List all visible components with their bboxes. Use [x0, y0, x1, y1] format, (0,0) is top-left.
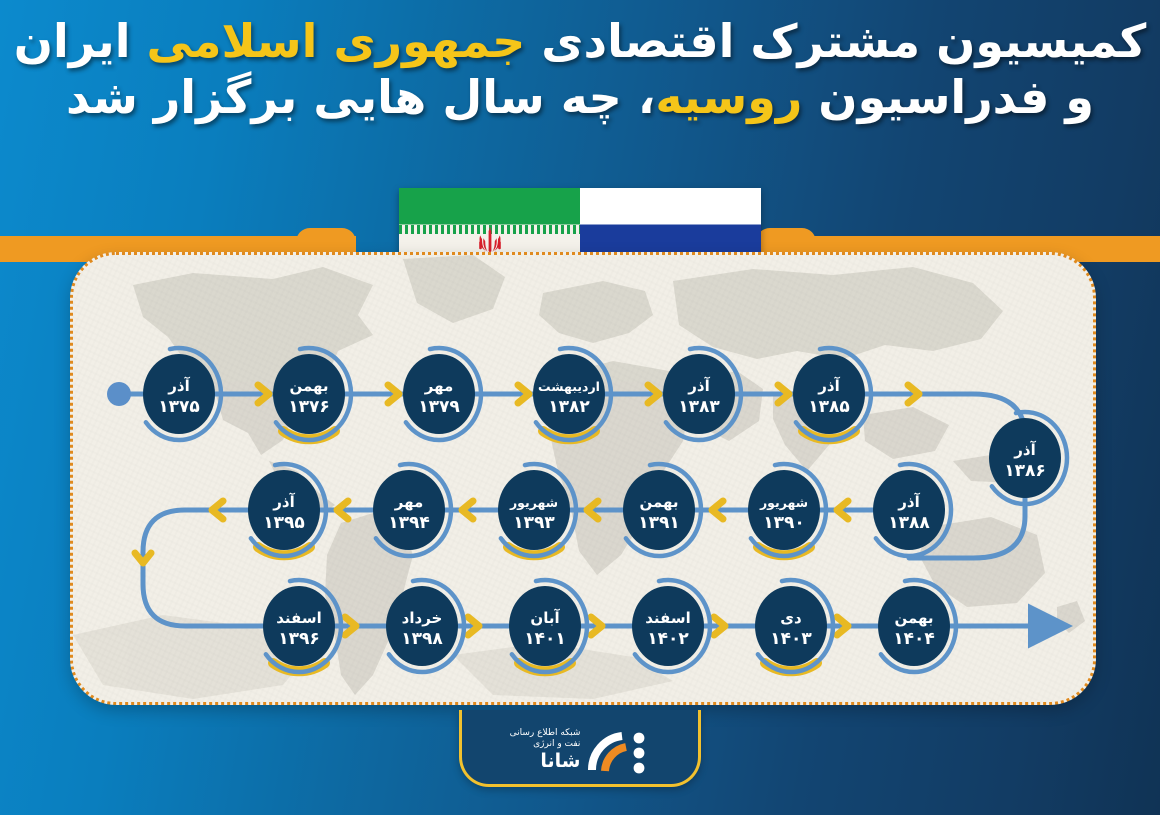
node-month: بهمن	[639, 493, 678, 511]
node-year: ۱۳۹۳	[513, 513, 555, 533]
node-month: آذر	[167, 377, 190, 395]
timeline-panel: آذر۱۳۷۵بهمن۱۳۷۶مهر۱۳۷۹اردیبهشت۱۳۸۲آذر۱۳۸…	[70, 252, 1096, 705]
node-month: دی	[780, 609, 802, 627]
node-month: آذر	[687, 377, 710, 395]
timeline-node-r3-2[interactable]: خرداد۱۳۹۸	[380, 580, 464, 672]
title-line-1: کمیسیون مشترک اقتصادی جمهوری اسلامی ایرا…	[0, 16, 1160, 68]
node-year: ۱۳۹۵	[263, 513, 305, 533]
shana-logo-text: شبکه اطلاع رسانی نفت و انرژی شانا	[510, 728, 581, 774]
node-year: ۱۳۸۲	[548, 397, 590, 417]
node-month: اسفند	[276, 609, 321, 627]
timeline-node-r1-6[interactable]: آذر۱۳۸۵	[787, 348, 871, 440]
node-month: آذر	[897, 493, 920, 511]
shana-logo-icon	[588, 728, 650, 774]
shana-logo: شبکه اطلاع رسانی نفت و انرژی شانا	[462, 710, 698, 784]
timeline-node-r1-1[interactable]: آذر۱۳۷۵	[137, 348, 221, 440]
timeline-node-r3-3[interactable]: آبان۱۴۰۱	[503, 580, 587, 672]
node-month: اردیبهشت	[538, 379, 600, 394]
timeline-node-r2-2[interactable]: مهر۱۳۹۴	[367, 464, 451, 556]
node-year: ۱۳۷۵	[158, 397, 200, 417]
node-year: ۱۴۰۴	[893, 629, 935, 649]
node-year: ۱۳۷۹	[418, 397, 460, 417]
page-title: کمیسیون مشترک اقتصادی جمهوری اسلامی ایرا…	[0, 16, 1160, 123]
title-seg-2a: و فدراسیون	[802, 70, 1094, 124]
timeline-node-wrap-right[interactable]: آذر۱۳۸۶	[983, 412, 1067, 504]
timeline-node-r3-1[interactable]: اسفند۱۳۹۶	[257, 580, 341, 672]
node-year: ۱۳۹۶	[278, 629, 320, 649]
timeline-node-r1-3[interactable]: مهر۱۳۷۹	[397, 348, 481, 440]
node-year: ۱۳۸۸	[888, 513, 930, 533]
node-month: بهمن	[289, 377, 328, 395]
logo-line-2: نفت و انرژی	[510, 739, 581, 750]
timeline-graphic: آذر۱۳۷۵بهمن۱۳۷۶مهر۱۳۷۹اردیبهشت۱۳۸۲آذر۱۳۸…	[73, 255, 1093, 702]
logo-brand-name: شانا	[510, 750, 581, 774]
node-year: ۱۴۰۳	[770, 629, 812, 649]
node-month: آذر	[1013, 441, 1036, 459]
timeline-node-r3-4[interactable]: اسفند۱۴۰۲	[626, 580, 710, 672]
infographic-canvas: کمیسیون مشترک اقتصادی جمهوری اسلامی ایرا…	[0, 0, 1160, 815]
title-seg-2c: ، چه سال هایی برگزار شد	[66, 70, 655, 124]
timeline-node-r2-4[interactable]: بهمن۱۳۹۱	[617, 464, 701, 556]
node-year: ۱۳۹۴	[388, 513, 430, 533]
node-year: ۱۳۹۸	[401, 629, 443, 649]
node-body	[498, 470, 570, 550]
timeline-node-r3-6[interactable]: بهمن۱۴۰۴	[872, 580, 956, 672]
timeline-node-r2-1[interactable]: آذر۱۳۹۵	[242, 464, 326, 556]
wrap-left	[143, 510, 269, 626]
timeline-node-r1-4[interactable]: اردیبهشت۱۳۸۲	[527, 348, 611, 440]
node-year: ۱۳۷۶	[288, 397, 330, 417]
title-seg-1c: ایران	[14, 14, 131, 68]
start-dot	[107, 382, 131, 406]
node-year: ۱۳۹۰	[763, 513, 805, 533]
node-month: مهر	[394, 493, 424, 511]
timeline-node-r3-5[interactable]: دی۱۴۰۳	[749, 580, 833, 672]
timeline-node-r1-5[interactable]: آذر۱۳۸۳	[657, 348, 741, 440]
timeline-node-r2-5[interactable]: شهریور۱۳۹۰	[742, 464, 826, 556]
title-seg-2b: روسیه	[655, 70, 802, 124]
node-month: آبان	[530, 609, 560, 627]
title-seg-1b: جمهوری اسلامی	[130, 14, 525, 68]
logo-line-1: شبکه اطلاع رسانی	[510, 728, 581, 739]
timeline-node-r2-6[interactable]: آذر۱۳۸۸	[867, 464, 951, 556]
footer-logo-tab: شبکه اطلاع رسانی نفت و انرژی شانا	[459, 710, 701, 787]
node-year: ۱۴۰۲	[647, 629, 689, 649]
timeline-node-r1-2[interactable]: بهمن۱۳۷۶	[267, 348, 351, 440]
title-line-2: و فدراسیون روسیه، چه سال هایی برگزار شد	[0, 72, 1160, 124]
node-month: خرداد	[402, 609, 443, 627]
node-year: ۱۳۹۱	[638, 513, 680, 533]
node-month: شهریور	[509, 495, 558, 510]
timeline-node-r2-3[interactable]: شهریور۱۳۹۳	[492, 464, 576, 556]
node-year: ۱۳۸۶	[1004, 461, 1046, 481]
title-seg-1a: کمیسیون مشترک اقتصادی	[525, 14, 1146, 68]
node-month: آذر	[817, 377, 840, 395]
node-year: ۱۴۰۱	[524, 629, 566, 649]
node-month: اسفند	[645, 609, 690, 627]
node-month: شهریور	[759, 495, 808, 510]
node-year: ۱۳۸۳	[678, 397, 720, 417]
node-body	[748, 470, 820, 550]
node-month: مهر	[424, 377, 454, 395]
node-year: ۱۳۸۵	[808, 397, 850, 417]
node-month: آذر	[272, 493, 295, 511]
node-month: بهمن	[894, 609, 933, 627]
node-body	[533, 354, 605, 434]
